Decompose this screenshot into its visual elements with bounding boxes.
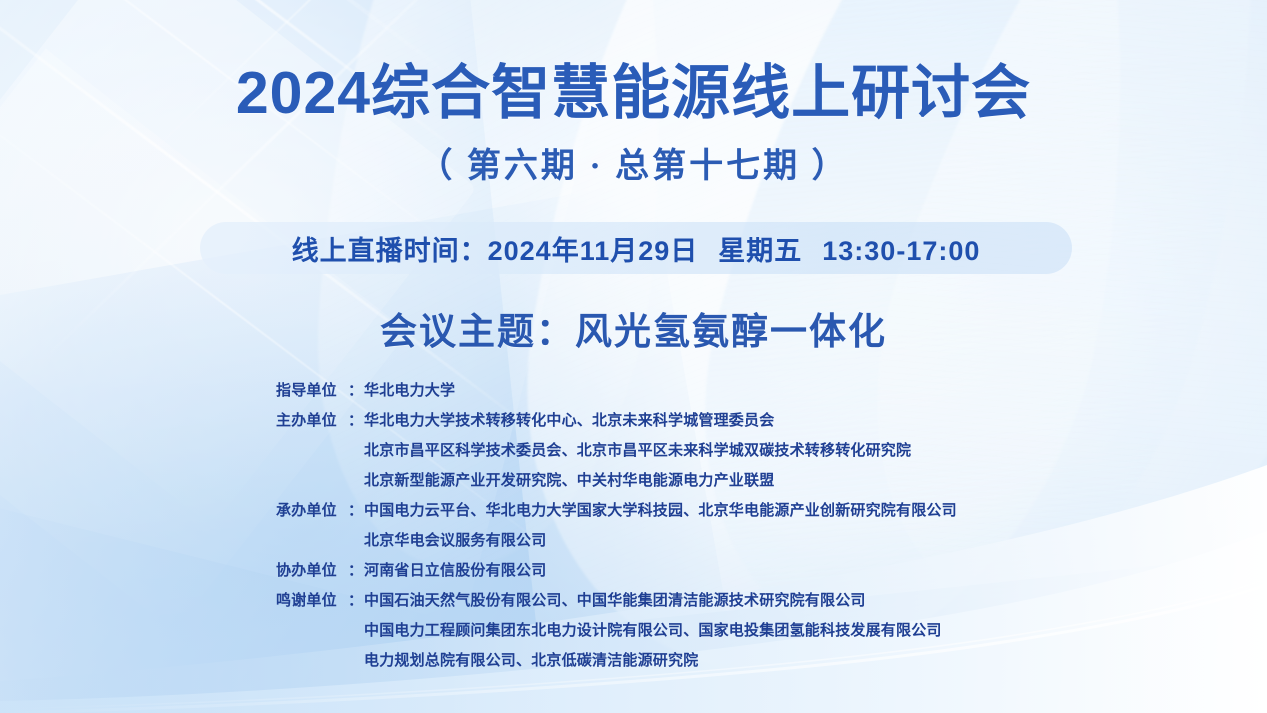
organization-row: 北京新型能源产业开发研究院、中关村华电能源电力产业联盟 bbox=[276, 469, 1036, 499]
event-poster: 2024综合智慧能源线上研讨会 （ 第六期 · 总第十七期 ） 线上直播时间：2… bbox=[0, 0, 1267, 713]
organization-colon: ： bbox=[348, 499, 364, 520]
organization-colon: ： bbox=[348, 409, 364, 430]
organization-colon: ： bbox=[348, 589, 364, 610]
organization-colon: ： bbox=[348, 559, 364, 580]
organization-list: 指导单位 ： 华北电力大学 主办单位 ： 华北电力大学技术转移转化中心、北京未来… bbox=[276, 379, 1036, 679]
organization-row: 协办单位 ： 河南省日立信股份有限公司 bbox=[276, 559, 1036, 589]
organization-row: 电力规划总院有限公司、北京低碳清洁能源研究院 bbox=[276, 649, 1036, 679]
live-time-date: 2024年11月29日 bbox=[488, 236, 699, 266]
conference-theme: 会议主题：风光氢氨醇一体化 bbox=[0, 310, 1267, 356]
organization-label: 指导单位 bbox=[276, 379, 348, 400]
poster-content: 2024综合智慧能源线上研讨会 （ 第六期 · 总第十七期 ） 线上直播时间：2… bbox=[0, 0, 1267, 713]
page-subtitle: （ 第六期 · 总第十七期 ） bbox=[0, 146, 1267, 188]
organization-value: 华北电力大学技术转移转化中心、北京未来科学城管理委员会 bbox=[364, 409, 1036, 430]
organization-row: 北京华电会议服务有限公司 bbox=[276, 529, 1036, 559]
organization-row: 北京市昌平区科学技术委员会、北京市昌平区未来科学城双碳技术转移转化研究院 bbox=[276, 439, 1036, 469]
organization-label: 鸣谢单位 bbox=[276, 589, 348, 610]
live-time-label: 线上直播时间： bbox=[292, 236, 488, 266]
live-time-banner: 线上直播时间：2024年11月29日星期五13:30-17:00 bbox=[200, 222, 1072, 274]
organization-row: 鸣谢单位 ： 中国石油天然气股份有限公司、中国华能集团清洁能源技术研究院有限公司 bbox=[276, 589, 1036, 619]
organization-label: 承办单位 bbox=[276, 499, 348, 520]
organization-row: 主办单位 ： 华北电力大学技术转移转化中心、北京未来科学城管理委员会 bbox=[276, 409, 1036, 439]
organization-value: 中国石油天然气股份有限公司、中国华能集团清洁能源技术研究院有限公司 bbox=[364, 589, 1036, 610]
live-time-text: 线上直播时间：2024年11月29日星期五13:30-17:00 bbox=[292, 229, 981, 268]
organization-value: 中国电力云平台、华北电力大学国家大学科技园、北京华电能源产业创新研究院有限公司 bbox=[364, 499, 1036, 520]
organization-value: 北京新型能源产业开发研究院、中关村华电能源电力产业联盟 bbox=[364, 469, 1036, 490]
organization-value: 中国电力工程顾问集团东北电力设计院有限公司、国家电投集团氢能科技发展有限公司 bbox=[364, 619, 1036, 640]
organization-row: 承办单位 ： 中国电力云平台、华北电力大学国家大学科技园、北京华电能源产业创新研… bbox=[276, 499, 1036, 529]
organization-row: 中国电力工程顾问集团东北电力设计院有限公司、国家电投集团氢能科技发展有限公司 bbox=[276, 619, 1036, 649]
live-time-weekday: 星期五 bbox=[718, 236, 802, 266]
organization-value: 北京市昌平区科学技术委员会、北京市昌平区未来科学城双碳技术转移转化研究院 bbox=[364, 439, 1036, 460]
page-title: 2024综合智慧能源线上研讨会 bbox=[0, 60, 1267, 126]
organization-value: 电力规划总院有限公司、北京低碳清洁能源研究院 bbox=[364, 649, 1036, 670]
organization-label: 协办单位 bbox=[276, 559, 348, 580]
organization-value: 河南省日立信股份有限公司 bbox=[364, 559, 1036, 580]
organization-row: 指导单位 ： 华北电力大学 bbox=[276, 379, 1036, 409]
organization-colon: ： bbox=[348, 379, 364, 400]
organization-value: 北京华电会议服务有限公司 bbox=[364, 529, 1036, 550]
live-time-range: 13:30-17:00 bbox=[822, 236, 980, 266]
organization-label: 主办单位 bbox=[276, 409, 348, 430]
organization-value: 华北电力大学 bbox=[364, 379, 1036, 400]
